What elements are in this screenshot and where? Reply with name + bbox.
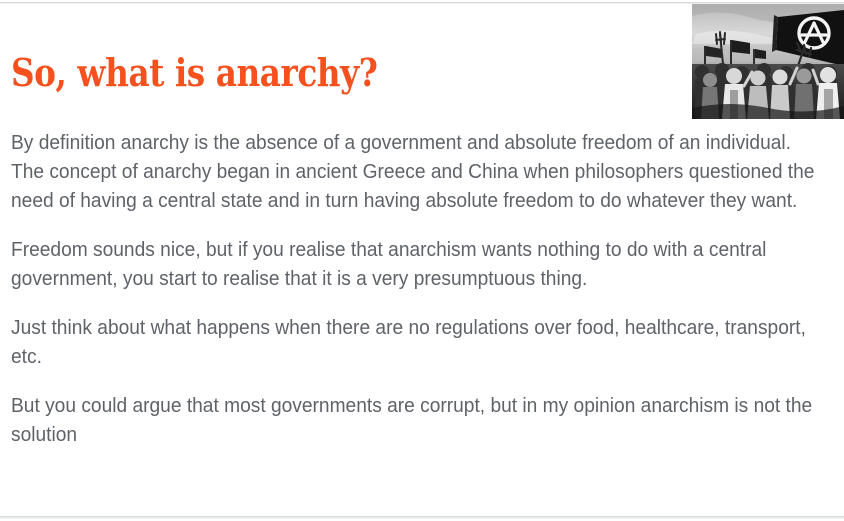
paragraph-4: But you could argue that most government… xyxy=(11,391,828,449)
paragraph-3: Just think about what happens when there… xyxy=(11,313,828,371)
anarchist-crowd-with-flag-photo xyxy=(692,4,844,119)
paragraph-2: Freedom sounds nice, but if you realise … xyxy=(11,235,828,293)
bottom-divider-shadow xyxy=(0,517,844,519)
paragraph-1: By definition anarchy is the absence of … xyxy=(11,128,828,215)
page-title: So, what is anarchy? xyxy=(11,50,377,96)
slide-canvas: So, what is anarchy? xyxy=(0,0,844,521)
body-copy: By definition anarchy is the absence of … xyxy=(11,128,829,449)
